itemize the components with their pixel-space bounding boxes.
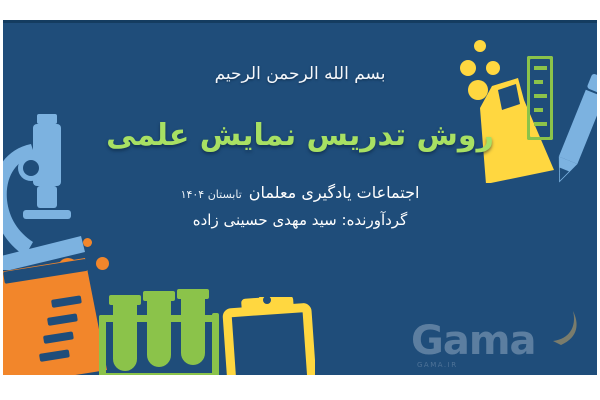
watermark: Gama GAMA.IR bbox=[411, 313, 581, 369]
top-rule-divider bbox=[3, 20, 597, 23]
ruler-icon bbox=[527, 56, 553, 140]
watermark-brand: Gama bbox=[411, 321, 536, 361]
watermark-swoosh-icon bbox=[545, 307, 585, 347]
pencil-icon bbox=[555, 68, 597, 188]
slide-canvas: بسم الله الرحمن الرحیم روش تدریس نمایش ع… bbox=[3, 20, 597, 375]
beaker-icon bbox=[3, 258, 107, 375]
subtitle-main-text: اجتماعات یادگیری معلمان bbox=[249, 183, 420, 202]
page-title: روش تدریس نمایش علمی bbox=[106, 118, 494, 153]
subtitle-season-text: تابستان ۱۴۰۴ bbox=[181, 188, 242, 201]
author-line: گردآورنده: سید مهدی حسینی زاده bbox=[193, 211, 407, 229]
bismillah-text: بسم الله الرحمن الرحیم bbox=[215, 64, 386, 84]
clipboard-icon bbox=[219, 297, 315, 375]
subtitle-row: اجتماعات یادگیری معلمان تابستان ۱۴۰۴ bbox=[181, 183, 420, 202]
watermark-tagline: GAMA.IR bbox=[417, 361, 458, 369]
bubble-icon bbox=[83, 238, 92, 247]
presentation-slide: بسم الله الرحمن الرحیم روش تدریس نمایش ع… bbox=[0, 0, 600, 400]
test-tubes-icon bbox=[99, 285, 219, 375]
